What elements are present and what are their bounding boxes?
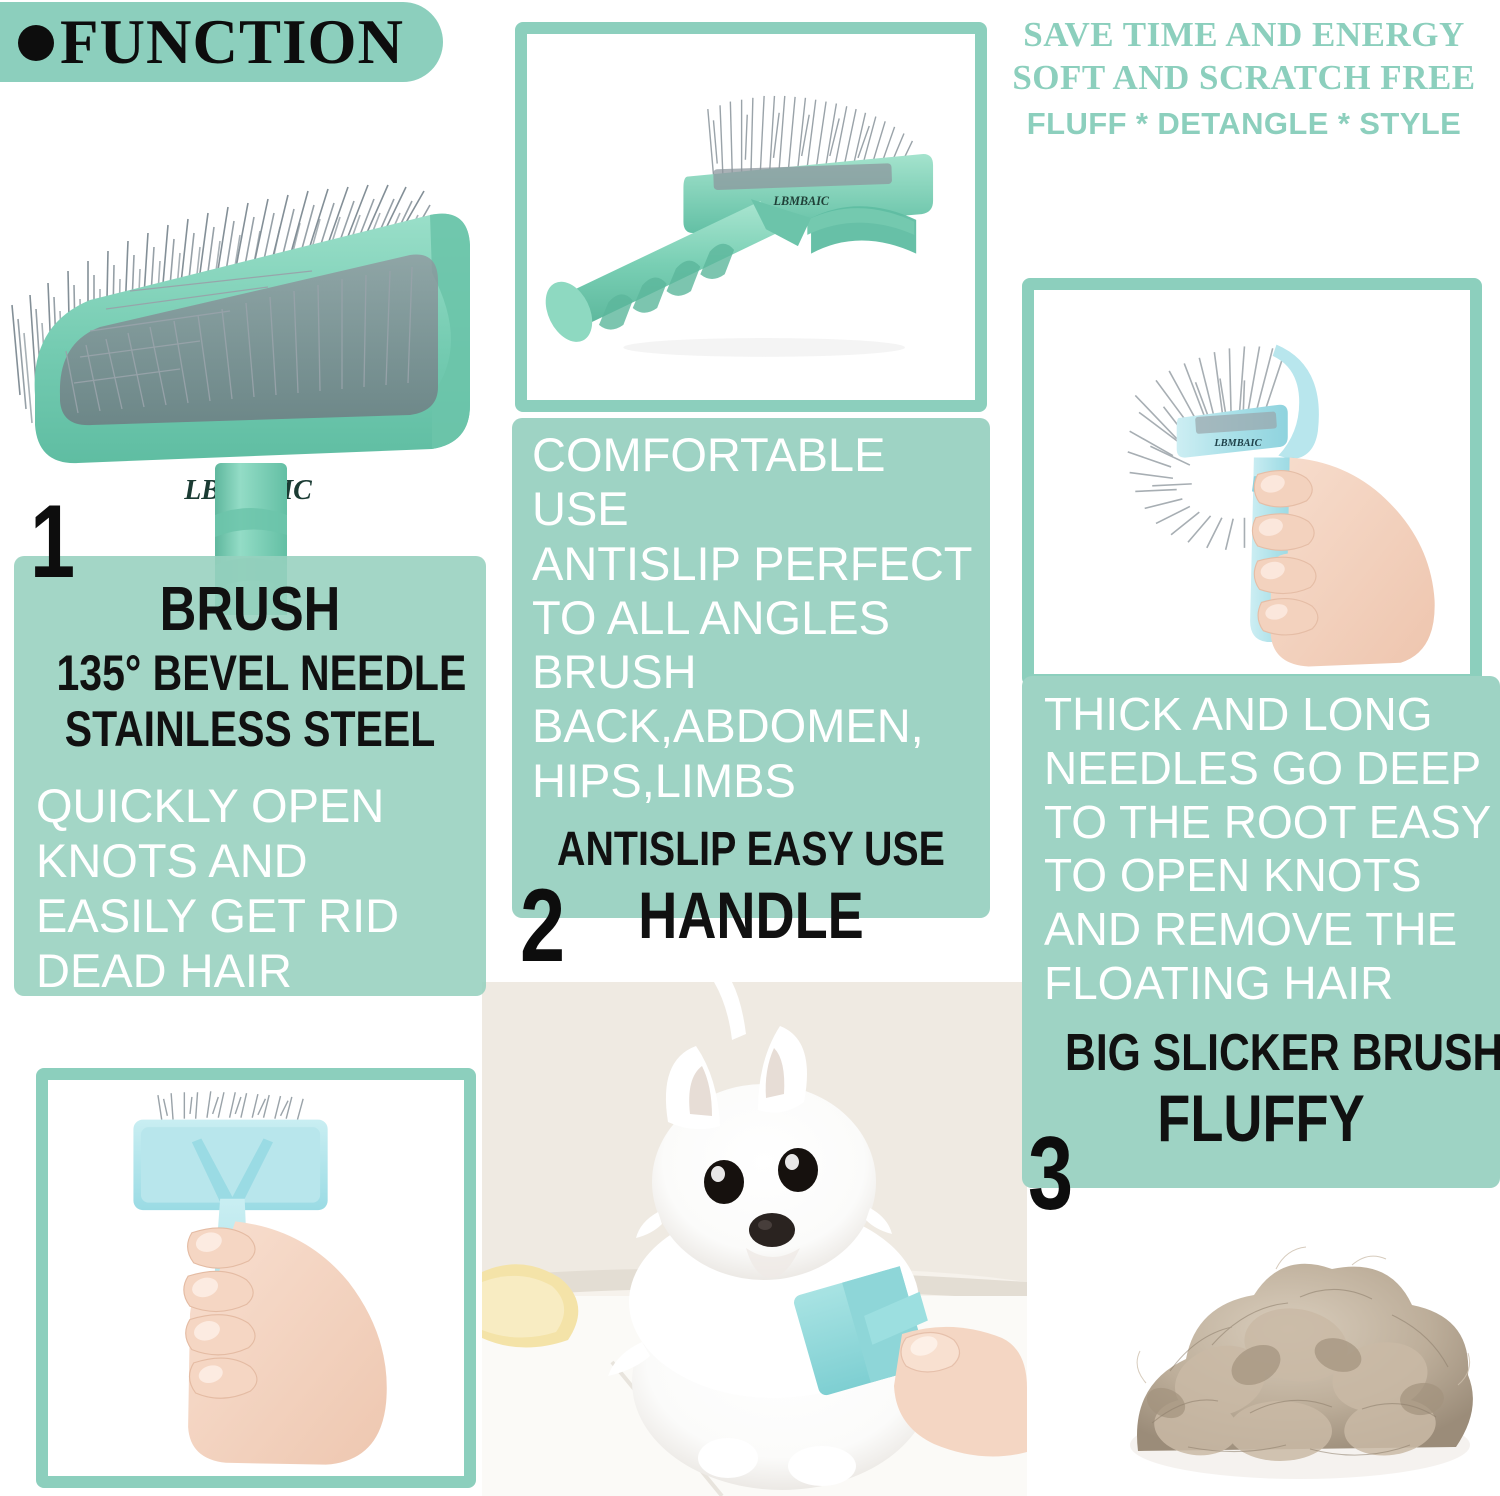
handle-sideview-art: LBMBAIC — [527, 34, 975, 400]
panel-1-title: BRUSH — [56, 578, 443, 641]
headline-line-2: SOFT AND SCRATCH FREE — [994, 57, 1494, 100]
panel-3-title: FLUFFY — [1065, 1084, 1457, 1153]
panel-3-subtitle: BIG SLICKER BRUSH — [1065, 1025, 1457, 1082]
panel-2-body-line: ANTISLIP PERFECT — [532, 537, 990, 591]
panel-3-body: THICK AND LONG NEEDLES GO DEEP TO THE RO… — [1022, 676, 1500, 1011]
photo-hand-back-view — [36, 1068, 476, 1488]
panel-2-body-line: HIPS,LIMBS — [532, 754, 990, 808]
panel-3-number: 3 — [1028, 1128, 1073, 1222]
panel-1-subtitle-2: STAINLESS STEEL — [56, 701, 443, 757]
hand-back-view-art — [48, 1080, 464, 1476]
panel-3-body-line: AND REMOVE THE — [1044, 903, 1500, 957]
panel-3-body-line: TO THE ROOT EASY — [1044, 796, 1500, 850]
panel-3-body-line: FLOATING HAIR — [1044, 957, 1500, 1011]
panel-3-body-line: NEEDLES GO DEEP — [1044, 742, 1500, 796]
headline-line-1: SAVE TIME AND ENERGY — [994, 14, 1494, 57]
panel-1-text-block: BRUSH 135° BEVEL NEEDLE STAINLESS STEEL … — [14, 556, 486, 996]
fur-pile-art — [1100, 1195, 1500, 1496]
svg-text:LBMBAIC: LBMBAIC — [773, 194, 830, 208]
panel-2-subtitle: ANTISLIP EASY USE — [555, 824, 947, 877]
photo-hand-holding-brush: LBMBAIC — [1022, 278, 1482, 686]
headline-tagline: FLUFF * DETANGLE * STYLE — [994, 103, 1494, 145]
photo-fur-pile — [1100, 1195, 1500, 1496]
panel-1-body-line: DEAD HAIR — [36, 944, 486, 999]
panel-1-body-line: EASILY GET RID — [36, 889, 486, 944]
function-label: FUNCTION — [60, 11, 404, 74]
hand-holding-brush-art: LBMBAIC — [1034, 290, 1470, 674]
panel-1-number: 1 — [30, 496, 75, 590]
function-header-pill: FUNCTION — [0, 2, 443, 82]
panel-2-title: HANDLE — [555, 881, 947, 950]
panel-3-text-block: THICK AND LONG NEEDLES GO DEEP TO THE RO… — [1022, 676, 1500, 1188]
photo-handle-sideview: LBMBAIC — [515, 22, 987, 412]
panel-3-body-line: TO OPEN KNOTS — [1044, 849, 1500, 903]
panel-2-body: COMFORTABLE USE ANTISLIP PERFECT TO ALL … — [512, 418, 990, 808]
panel-2-body-line: COMFORTABLE USE — [532, 428, 990, 537]
dog-grooming-art — [482, 982, 1027, 1496]
panel-2-body-line: BRUSH — [532, 645, 990, 699]
infographic-root: LBMBAIC — [0, 0, 1500, 1496]
bullet-dot-icon — [18, 25, 54, 61]
panel-1-body-line: KNOTS AND — [36, 834, 486, 889]
panel-1-body: QUICKLY OPEN KNOTS AND EASILY GET RID DE… — [14, 779, 486, 999]
svg-text:LBMBAIC: LBMBAIC — [1213, 438, 1261, 449]
panel-2-number: 2 — [520, 880, 565, 974]
headline-block: SAVE TIME AND ENERGY SOFT AND SCRATCH FR… — [994, 14, 1494, 145]
photo-dog-grooming — [482, 982, 1027, 1496]
panel-1-body-line: QUICKLY OPEN — [36, 779, 486, 834]
panel-3-body-line: THICK AND LONG — [1044, 688, 1500, 742]
panel-2-text-block: COMFORTABLE USE ANTISLIP PERFECT TO ALL … — [512, 418, 990, 918]
panel-2-body-line: TO ALL ANGLES — [532, 591, 990, 645]
panel-1-subtitle-1: 135° BEVEL NEEDLE — [56, 645, 443, 701]
panel-2-body-line: BACK,ABDOMEN, — [532, 699, 990, 753]
